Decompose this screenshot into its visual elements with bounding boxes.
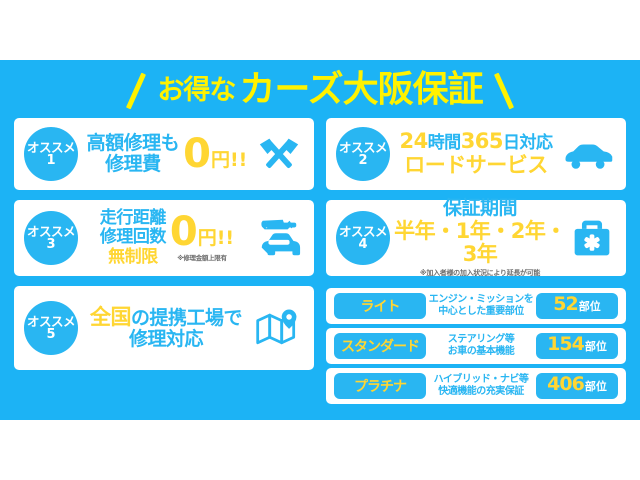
badge-2: オススメ 2	[336, 127, 390, 181]
feature-1-line2: 修理費	[87, 154, 180, 175]
badge-3: オススメ 3	[24, 211, 78, 265]
plan-name-standard: スタンダード	[334, 333, 426, 359]
badge-1: オススメ 1	[24, 127, 78, 181]
feature-2-hours-unit: 時間	[428, 133, 461, 153]
badge-1-number: 1	[46, 154, 55, 168]
feature-2-text: 24時間365日対応 ロードサービス	[399, 130, 552, 177]
plan-row-platinum[interactable]: プラチナ ハイブリッド・ナビ等 快適機能の充実保証 406 部位	[326, 368, 626, 404]
plan-count-standard: 154 部位	[536, 333, 618, 359]
feature-1-body: 高額修理も 修理費 0 円!!	[78, 133, 256, 176]
feature-4-line1: 保証期間	[390, 198, 570, 219]
badge-1-label: オススメ	[27, 141, 75, 154]
page-title: お得な カーズ大阪保証	[0, 62, 640, 118]
feature-5-line1-rest: の提携工場で	[131, 307, 242, 329]
slash-left-icon	[119, 70, 153, 110]
badge-4-label: オススメ	[339, 225, 387, 238]
plan-row-standard[interactable]: スタンダード ステアリング等 お車の基本機能 154 部位	[326, 328, 626, 364]
plan-count-light: 52 部位	[536, 293, 618, 319]
plan-name-platinum: プラチナ	[334, 373, 426, 399]
slash-right-icon	[487, 70, 521, 110]
feature-panel-5: オススメ 5 全国の提携工場で 修理対応	[14, 286, 314, 370]
feature-3-amount: 0 円!! ※修理金額上限有	[170, 214, 234, 262]
plan-desc-platinum: ハイブリッド・ナビ等 快適機能の充実保証	[426, 374, 536, 398]
plan-desc-light-line2: 中心とした重要部位	[428, 306, 534, 318]
badge-5-number: 5	[46, 328, 55, 342]
feature-panel-4: オススメ 4 保証期間 半年・1年・2年・3年 ※加入者様の加入状況により延長が…	[326, 200, 626, 276]
feature-2-hours: 24	[399, 129, 427, 153]
plan-desc-light-line1: エンジン・ミッションを	[428, 294, 534, 306]
crossed-hammer-icon	[256, 131, 302, 177]
plan-count-standard-number: 154	[547, 333, 584, 355]
feature-4-note: ※加入者様の加入状況により延長が可能	[390, 270, 570, 278]
plan-desc-standard-line2: お車の基本機能	[428, 346, 534, 358]
feature-panel-3: オススメ 3 走行距離 修理回数 無制限 0 円!! ※修理金額上限有	[14, 200, 314, 276]
badge-2-number: 2	[358, 154, 367, 168]
feature-5-body: 全国の提携工場で 修理対応	[78, 306, 254, 351]
badge-4-number: 4	[358, 238, 367, 252]
plan-desc-platinum-line2: 快適機能の充実保証	[428, 386, 534, 398]
feature-3-text: 走行距離 修理回数 無制限	[100, 209, 166, 266]
title-prefix: お得な	[157, 77, 235, 104]
feature-3-amount-number: 0	[170, 214, 198, 250]
badge-4: オススメ 4	[336, 211, 390, 265]
feature-3-line2: 修理回数	[100, 228, 166, 247]
plan-count-platinum: 406 部位	[536, 373, 618, 399]
feature-5-text: 全国の提携工場で 修理対応	[90, 306, 242, 351]
feature-1-amount: 0 円!!	[183, 136, 247, 172]
feature-3-amount-unit: 円!!	[198, 223, 234, 250]
badge-3-label: オススメ	[27, 225, 75, 238]
feature-2-days: 365	[461, 129, 503, 153]
feature-3-line1: 走行距離	[100, 209, 166, 228]
advertisement-canvas: お得な カーズ大阪保証 オススメ 1 高額修理も 修理費 0 円!!	[0, 0, 640, 480]
badge-5: オススメ 5	[24, 301, 78, 355]
feature-5-highlight: 全国	[90, 305, 131, 329]
feature-3-line3: 無制限	[100, 248, 166, 267]
plan-desc-platinum-line1: ハイブリッド・ナビ等	[428, 374, 534, 386]
toolbox-icon	[570, 217, 614, 259]
feature-4-line2: 半年・1年・2年・3年	[390, 220, 570, 267]
feature-5-line1: 全国の提携工場で	[90, 306, 242, 330]
plan-desc-standard-line1: ステアリング等	[428, 334, 534, 346]
map-pin-icon	[254, 307, 302, 349]
feature-panel-1: オススメ 1 高額修理も 修理費 0 円!!	[14, 118, 314, 190]
badge-2-label: オススメ	[339, 141, 387, 154]
plan-count-light-number: 52	[553, 293, 577, 315]
feature-2-body: 24時間365日対応 ロードサービス	[390, 130, 562, 177]
plan-desc-light: エンジン・ミッションを 中心とした重要部位	[426, 294, 536, 318]
feature-2-days-unit: 日対応	[503, 133, 553, 153]
plan-desc-standard: ステアリング等 お車の基本機能	[426, 334, 536, 358]
plan-row-light[interactable]: ライト エンジン・ミッションを 中心とした重要部位 52 部位	[326, 288, 626, 324]
title-main: カーズ大阪保証	[239, 72, 482, 108]
feature-5-line2: 修理対応	[90, 329, 242, 350]
feature-1-text: 高額修理も 修理費	[87, 133, 180, 176]
plan-count-standard-unit: 部位	[585, 338, 607, 354]
feature-3-body: 走行距離 修理回数 無制限 0 円!! ※修理金額上限有	[78, 209, 256, 266]
feature-1-amount-unit: 円!!	[211, 145, 247, 172]
feature-2-line1: 24時間365日対応	[399, 130, 552, 154]
plan-count-light-unit: 部位	[579, 298, 601, 314]
feature-panel-2: オススメ 2 24時間365日対応 ロードサービス	[326, 118, 626, 190]
feature-2-line2: ロードサービス	[399, 154, 552, 178]
feature-4-body: 保証期間 半年・1年・2年・3年 ※加入者様の加入状況により延長が可能	[390, 198, 570, 277]
car-side-icon	[562, 136, 614, 172]
badge-3-number: 3	[46, 238, 55, 252]
feature-1-amount-number: 0	[183, 136, 211, 172]
badge-5-label: オススメ	[27, 315, 75, 328]
feature-1-line1: 高額修理も	[87, 133, 180, 154]
feature-3-note: ※修理金額上限有	[177, 252, 226, 262]
plan-count-platinum-number: 406	[547, 373, 584, 395]
plan-name-light: ライト	[334, 293, 426, 319]
plan-count-platinum-unit: 部位	[585, 378, 607, 394]
feature-4-text: 保証期間 半年・1年・2年・3年 ※加入者様の加入状況により延長が可能	[390, 198, 570, 277]
wrench-car-icon	[256, 215, 302, 261]
feature-3-amount-row: 0 円!!	[170, 214, 234, 250]
